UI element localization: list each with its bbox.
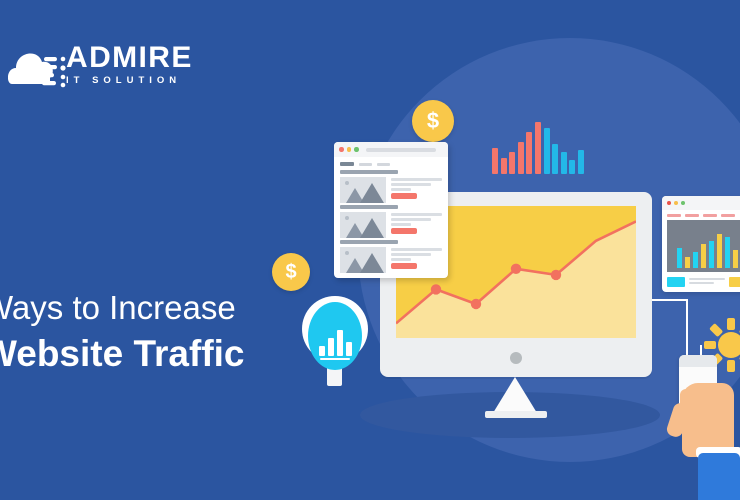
bar: [492, 148, 498, 174]
bar: [677, 248, 682, 268]
bar: [337, 330, 343, 356]
tab-stub: [685, 214, 699, 217]
headline-line-1: Ways to Increase: [0, 286, 312, 330]
list-item-heading: [340, 240, 398, 244]
thumbnail-image: [340, 247, 386, 273]
analytics-window-icon[interactable]: [662, 196, 740, 292]
hand-holding-phone-icon: [676, 355, 740, 500]
tab-stub: [703, 214, 717, 217]
address-bar[interactable]: [366, 148, 436, 152]
analytics-card-tabs: [662, 210, 740, 220]
card-connector-horizontal: [652, 299, 688, 301]
bar: [725, 237, 730, 268]
browser-titlebar: [334, 142, 448, 157]
dollar-sign: $: [285, 261, 296, 284]
bar: [578, 150, 584, 174]
brand-logo[interactable]: ADMIRE IT SOLUTION: [8, 38, 218, 100]
monitor-power-dot: [510, 352, 522, 364]
analytics-card-legend: [662, 272, 740, 287]
headline-block: Ways to Increase Website Traffic: [0, 286, 312, 378]
bar: [561, 152, 567, 174]
maximize-dot-icon: [681, 201, 685, 205]
bar: [535, 122, 541, 174]
bar: [544, 128, 550, 174]
palm: [682, 383, 734, 457]
bar: [328, 338, 334, 356]
brand-tagline: IT SOLUTION: [66, 74, 193, 88]
magnifier-analytics-icon[interactable]: [302, 296, 370, 384]
bar: [701, 244, 706, 268]
tab-stub: [667, 214, 681, 217]
bar: [693, 252, 698, 268]
list-item-text: [391, 177, 442, 203]
bar: [709, 241, 714, 268]
nav-item-active[interactable]: [340, 162, 354, 166]
list-item[interactable]: [334, 238, 448, 273]
monitor-base: [485, 411, 547, 418]
list-item-text: [391, 212, 442, 238]
dollar-coin-left: $: [272, 253, 310, 291]
axis-line: [320, 358, 350, 361]
gear-tooth: [704, 341, 716, 349]
thumbnail-image: [340, 212, 386, 238]
dollar-sign: $: [427, 108, 439, 134]
bar: [526, 132, 532, 174]
thumbnail-image: [340, 177, 386, 203]
bar: [319, 346, 325, 356]
card-connector-vertical: [686, 299, 688, 361]
cloud-dots-icon: [8, 40, 70, 96]
maximize-dot-icon: [354, 147, 359, 152]
minimize-dot-icon: [347, 147, 352, 152]
legend-swatch-yellow: [729, 277, 740, 287]
list-item-text: [391, 247, 442, 273]
list-item-heading: [340, 170, 398, 174]
analytics-card-bar-chart: [667, 220, 740, 272]
browser-nav: [334, 157, 448, 168]
bar: [552, 144, 558, 174]
magnifier-lens: [308, 302, 362, 370]
brand-name: ADMIRE: [66, 42, 193, 74]
bar: [518, 142, 524, 174]
phone-speaker: [679, 355, 717, 367]
list-item-heading: [340, 205, 398, 209]
cta-button[interactable]: [391, 263, 417, 269]
minimize-dot-icon: [674, 201, 678, 205]
dollar-coin-top: $: [412, 100, 454, 142]
bar: [733, 250, 738, 268]
shirt-sleeve: [698, 453, 740, 500]
bar: [509, 152, 515, 174]
gear-tooth: [727, 318, 735, 330]
legend-swatch-cyan: [667, 277, 685, 287]
list-item[interactable]: [334, 168, 448, 203]
monitor-neck: [493, 377, 537, 413]
list-item[interactable]: [334, 203, 448, 238]
floating-bar-chart: [492, 118, 588, 174]
banner-canvas: ADMIRE IT SOLUTION Ways to Increase Webs…: [0, 0, 740, 500]
bar: [346, 342, 352, 356]
tab-stub: [721, 214, 735, 217]
close-dot-icon: [339, 147, 344, 152]
nav-item[interactable]: [359, 163, 372, 166]
bar: [717, 234, 722, 269]
nav-item[interactable]: [377, 163, 390, 166]
bar: [501, 158, 507, 174]
close-dot-icon: [667, 201, 671, 205]
cta-button[interactable]: [391, 228, 417, 234]
headline-line-2: Website Traffic: [0, 330, 312, 378]
browser-window-icon[interactable]: [334, 142, 448, 278]
bar: [569, 160, 575, 174]
analytics-card-titlebar: [662, 196, 740, 210]
cta-button[interactable]: [391, 193, 417, 199]
legend-text-lines: [689, 278, 725, 286]
bar: [685, 257, 690, 268]
